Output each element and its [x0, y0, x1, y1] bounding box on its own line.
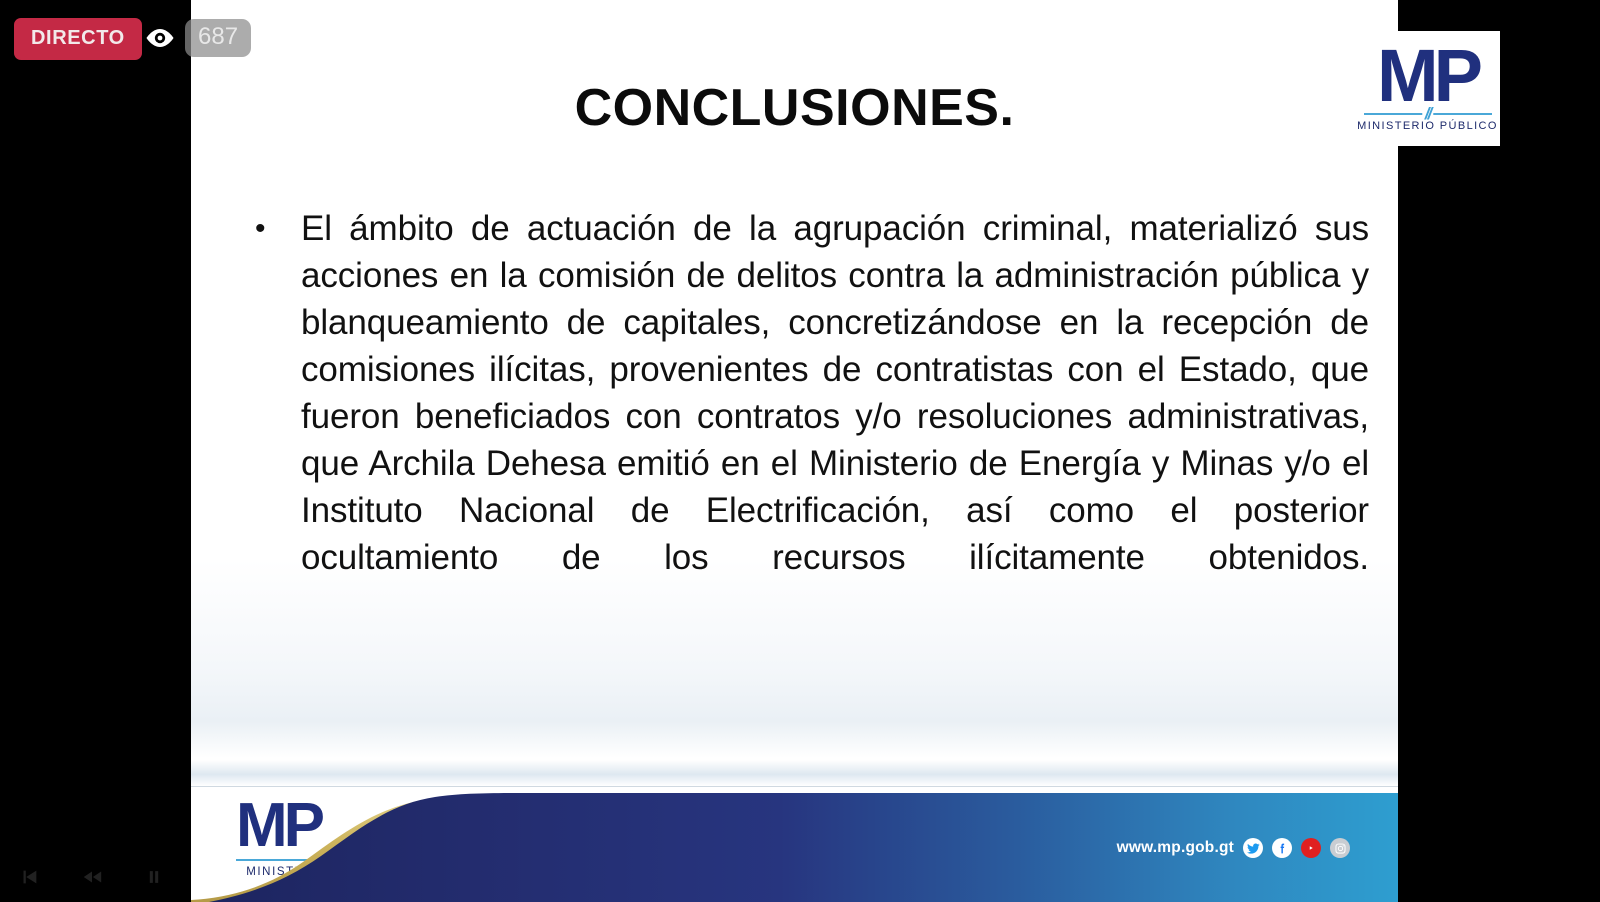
mp-divider: // [1364, 110, 1492, 118]
mp-wordmark: MP [1377, 45, 1478, 108]
instagram-icon [1330, 838, 1350, 858]
mp-divider: // [236, 856, 406, 864]
slide-background-band [191, 760, 1398, 786]
youtube-icon [1301, 838, 1321, 858]
twitter-icon [1243, 838, 1263, 858]
mp-slash-mark: // [315, 853, 326, 867]
eye-icon [144, 28, 176, 48]
facebook-icon [1272, 838, 1292, 858]
rewind-icon[interactable] [80, 866, 104, 888]
footer-url: www.mp.gob.gt [1117, 839, 1234, 857]
viewer-count: 687 [185, 19, 251, 57]
footer-divider [191, 786, 1398, 787]
viewer-count-group: 687 [144, 19, 251, 57]
mp-logo-card: MP // MINISTERIO PÚBLICO [1355, 31, 1500, 146]
slide-title: CONCLUSIONES. [191, 78, 1398, 138]
footer-web-block: www.mp.gob.gt [1117, 838, 1350, 858]
player-controls[interactable] [18, 866, 226, 888]
slide-body: • El ámbito de actuación de la agrupació… [249, 205, 1369, 628]
live-badge: DIRECTO [14, 18, 142, 60]
video-stage: CONCLUSIONES. • El ámbito de actuación d… [0, 0, 1600, 902]
footer-mp-logo: MP // MINISTERIO PÚBLICO [236, 800, 406, 878]
previous-track-icon[interactable] [18, 866, 40, 888]
presentation-slide: CONCLUSIONES. • El ámbito de actuación d… [191, 0, 1398, 902]
next-track-icon[interactable] [204, 866, 226, 888]
pause-icon[interactable] [144, 866, 164, 888]
bullet-marker: • [249, 205, 301, 628]
slide-body-text: El ámbito de actuación de la agrupación … [301, 205, 1369, 628]
mp-wordmark: MP [236, 800, 406, 853]
mp-slash-mark: // [1422, 107, 1433, 121]
